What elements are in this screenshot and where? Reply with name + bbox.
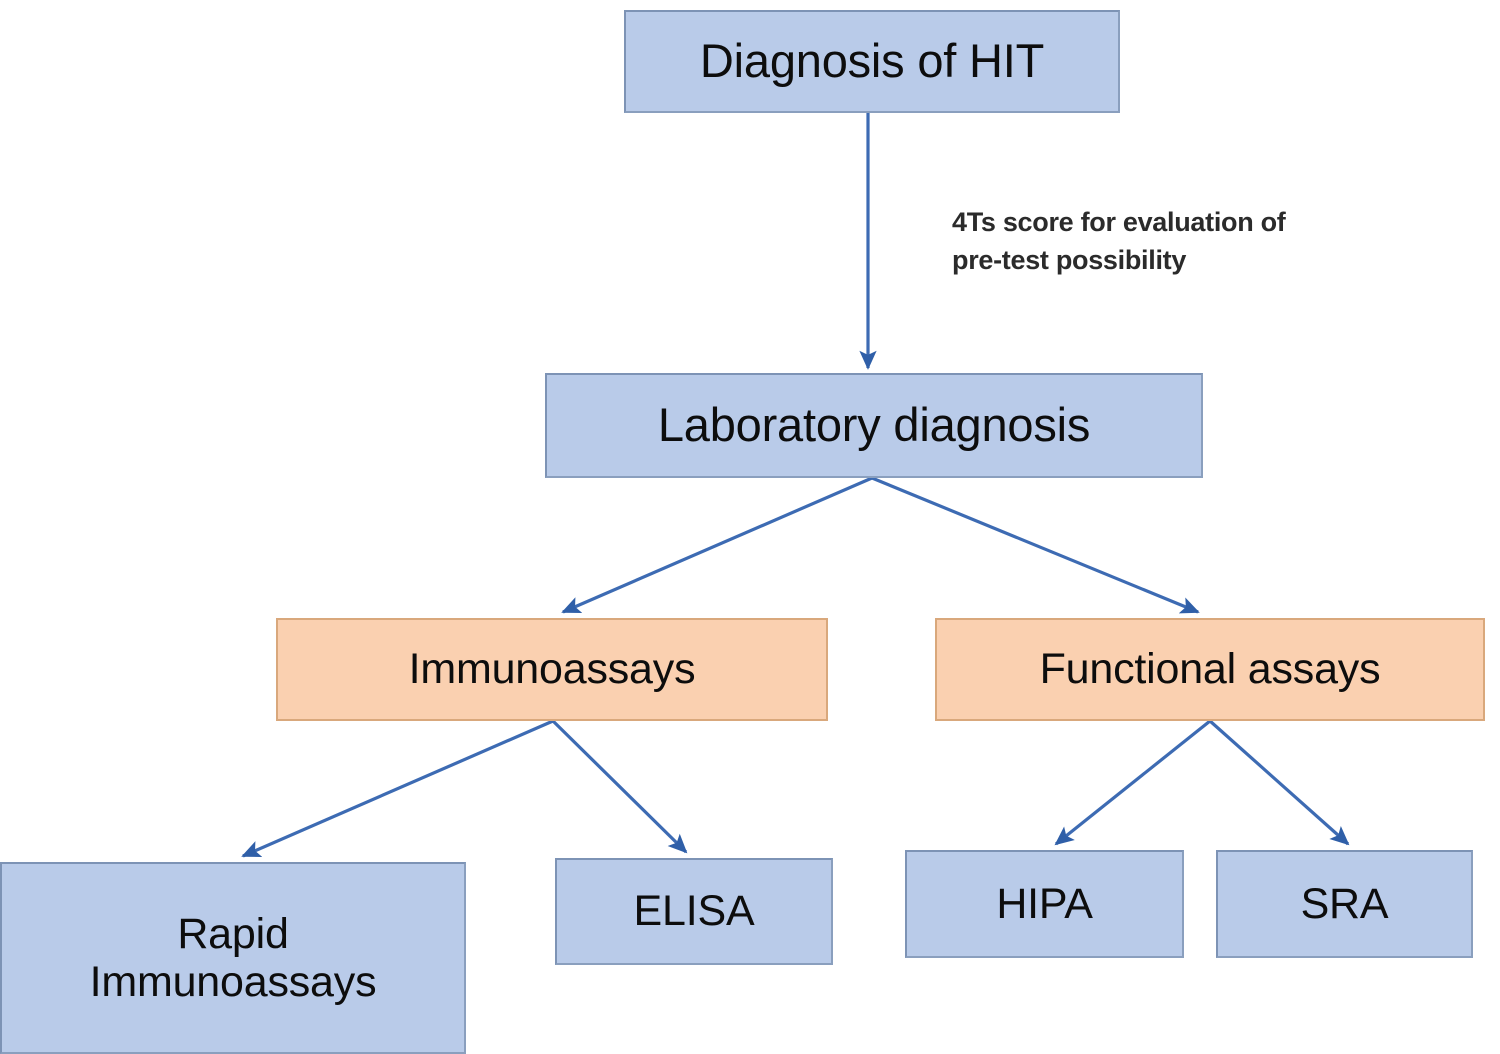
connector-arrow-functional-to-sra (1210, 721, 1348, 844)
node-label-sra: SRA (1293, 880, 1397, 928)
flowchart-node-laboratory-diagnosis[interactable]: Laboratory diagnosis (545, 373, 1203, 478)
connector-arrow-functional-to-hipa (1056, 721, 1210, 844)
flowchart-node-rapid-immunoassays[interactable]: Rapid Immunoassays (0, 862, 466, 1054)
node-label-hipa: HIPA (988, 880, 1100, 928)
connector-arrow-immunoassays-to-rapid (243, 721, 553, 856)
flowchart-node-diagnosis-of-hit[interactable]: Diagnosis of HIT (624, 10, 1120, 113)
node-label-immunoassays: Immunoassays (401, 645, 704, 693)
connector-arrow-lab-to-functional-assays (872, 478, 1198, 612)
node-label-diagnosis-of-hit: Diagnosis of HIT (692, 35, 1052, 88)
node-label-rapid-immunoassays: Rapid Immunoassays (82, 910, 385, 1006)
node-label-elisa: ELISA (626, 887, 763, 935)
flowchart-node-sra[interactable]: SRA (1216, 850, 1473, 958)
flowchart-canvas: Diagnosis of HITLaboratory diagnosisImmu… (0, 0, 1500, 1054)
node-label-laboratory-diagnosis: Laboratory diagnosis (650, 399, 1098, 452)
flowchart-node-elisa[interactable]: ELISA (555, 858, 833, 965)
flowchart-node-functional-assays[interactable]: Functional assays (935, 618, 1485, 721)
flowchart-node-immunoassays[interactable]: Immunoassays (276, 618, 828, 721)
flowchart-node-hipa[interactable]: HIPA (905, 850, 1184, 958)
node-label-functional-assays: Functional assays (1032, 645, 1389, 693)
annotation-four-ts-note: 4Ts score for evaluation of pre-test pos… (952, 203, 1286, 280)
connector-arrow-lab-to-immunoassays (563, 478, 872, 612)
connector-arrow-immunoassays-to-elisa (553, 721, 686, 852)
